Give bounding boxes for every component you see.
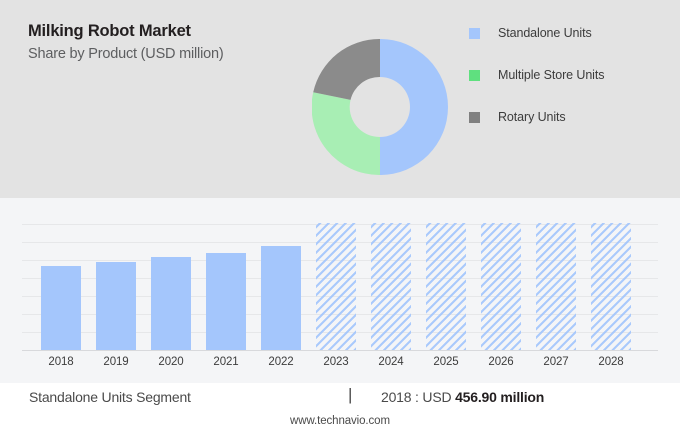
bar-2024[interactable] — [371, 223, 411, 350]
x-tick-2024: 2024 — [364, 356, 418, 368]
bar-chart-plot — [22, 224, 658, 351]
x-tick-2019: 2019 — [89, 356, 143, 368]
bar-2025[interactable] — [426, 223, 466, 350]
legend-label-multiple-store-units: Multiple Store Units — [498, 68, 604, 82]
bar-2020[interactable] — [151, 257, 191, 350]
bar-2023[interactable] — [316, 223, 356, 350]
page-subtitle: Share by Product (USD million) — [28, 47, 328, 63]
footer-segment-label: Standalone Units Segment — [29, 389, 191, 405]
donut-chart-svg — [312, 39, 448, 175]
title-block: Milking Robot Market Share by Product (U… — [28, 22, 328, 63]
bar-2019[interactable] — [96, 262, 136, 350]
legend-item-rotary-units[interactable]: Rotary Units — [469, 96, 669, 138]
footer-value-block: 2018 : USD 456.90 million — [381, 389, 544, 405]
donut-slice-rotary-units[interactable] — [313, 39, 380, 100]
x-tick-2020: 2020 — [144, 356, 198, 368]
bar-2028[interactable] — [591, 223, 631, 350]
bar-2018[interactable] — [41, 266, 81, 350]
donut-chart — [312, 39, 448, 175]
legend-swatch-icon-multiple-store-units — [469, 70, 480, 81]
legend-label-standalone-units: Standalone Units — [498, 26, 592, 40]
donut-slice-multiple-store-units[interactable] — [312, 92, 380, 175]
bar-2022[interactable] — [261, 246, 301, 350]
x-tick-2021: 2021 — [199, 356, 253, 368]
footer: Standalone Units Segment | 2018 : USD 45… — [0, 383, 680, 440]
legend-swatch-icon-standalone-units — [469, 28, 480, 39]
infographic-root: Milking Robot Market Share by Product (U… — [0, 0, 680, 440]
x-tick-2022: 2022 — [254, 356, 308, 368]
x-tick-2027: 2027 — [529, 356, 583, 368]
bar-2026[interactable] — [481, 223, 521, 350]
legend-item-multiple-store-units[interactable]: Multiple Store Units — [469, 54, 669, 96]
bar-chart-panel: 2018 2019 2020 2021 2022 2023 2024 2025 … — [0, 198, 680, 383]
chart-legend: Standalone Units Multiple Store Units Ro… — [469, 12, 669, 138]
page-title: Milking Robot Market — [28, 22, 328, 40]
x-tick-2026: 2026 — [474, 356, 528, 368]
bar-2021[interactable] — [206, 253, 246, 350]
x-tick-2025: 2025 — [419, 356, 473, 368]
top-panel: Milking Robot Market Share by Product (U… — [0, 0, 680, 198]
footer-value: 456.90 million — [455, 389, 544, 405]
legend-label-rotary-units: Rotary Units — [498, 110, 566, 124]
footer-url[interactable]: www.technavio.com — [0, 415, 680, 427]
x-tick-2023: 2023 — [309, 356, 363, 368]
bar-series-standalone-units — [22, 224, 658, 351]
bar-2027[interactable] — [536, 223, 576, 350]
x-tick-2018: 2018 — [34, 356, 88, 368]
legend-swatch-icon-rotary-units — [469, 112, 480, 123]
footer-value-prefix: 2018 : USD — [381, 389, 451, 405]
donut-slice-standalone-units[interactable] — [380, 39, 448, 175]
x-tick-2028: 2028 — [584, 356, 638, 368]
footer-divider: | — [348, 386, 352, 403]
legend-item-standalone-units[interactable]: Standalone Units — [469, 12, 669, 54]
x-axis-labels: 2018 2019 2020 2021 2022 2023 2024 2025 … — [22, 356, 658, 374]
